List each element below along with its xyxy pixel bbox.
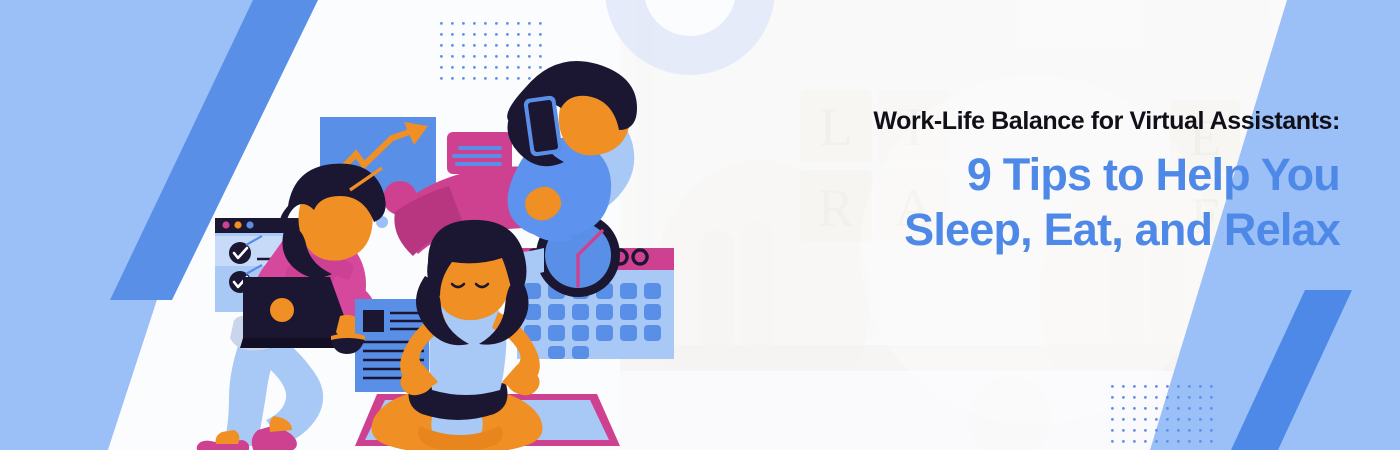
banner-eyebrow: Work-Life Balance for Virtual Assistants… <box>690 106 1340 136</box>
hero-banner: L I R A E F <box>0 0 1400 450</box>
headline-line-2: Sleep, Eat, and Relax <box>690 203 1340 258</box>
headline-line-1: 9 Tips to Help You <box>690 148 1340 203</box>
banner-text-block: Work-Life Balance for Virtual Assistants… <box>690 106 1340 258</box>
banner-headline: 9 Tips to Help You Sleep, Eat, and Relax <box>690 148 1340 258</box>
